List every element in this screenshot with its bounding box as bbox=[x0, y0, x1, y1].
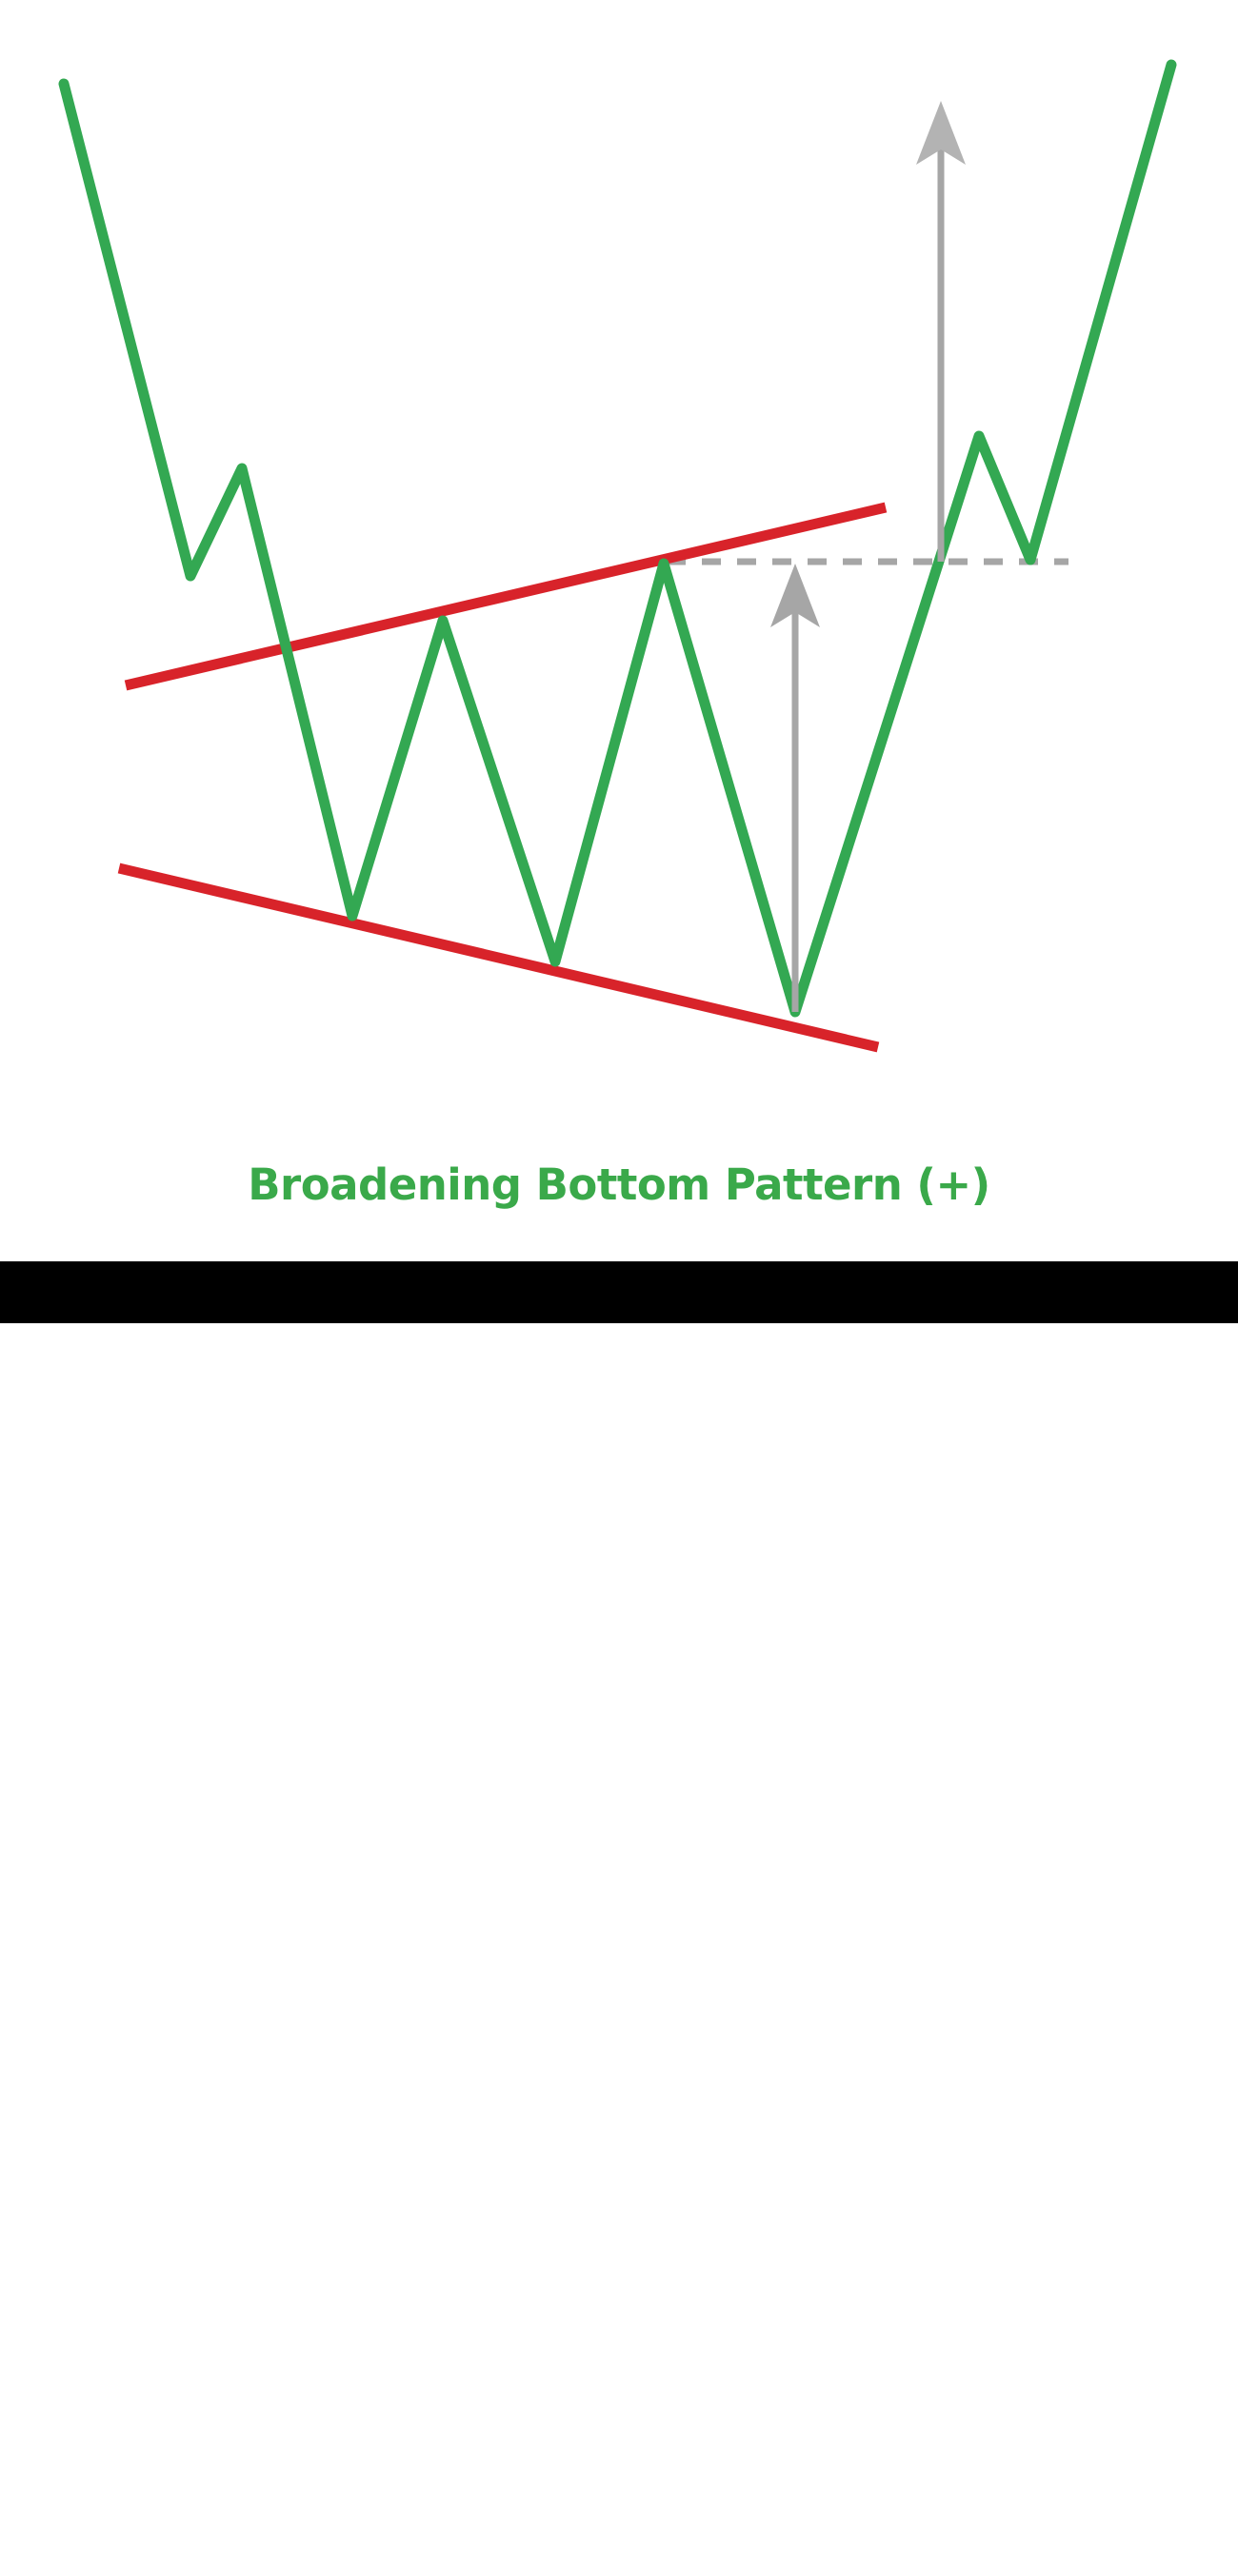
pattern-svg bbox=[0, 0, 1238, 1142]
website-label: www.alamy.com bbox=[1098, 2545, 1225, 2563]
page-title: Broadening Bottom Pattern (+) bbox=[0, 1159, 1238, 1210]
footer-metadata: Image ID: 2M03424 www.alamy.com bbox=[1098, 2526, 1225, 2563]
upper-trendline bbox=[126, 507, 886, 685]
price-line bbox=[64, 65, 1171, 1012]
image-id-label: Image ID: 2M03424 bbox=[1098, 2526, 1225, 2545]
watermark-footer: alamy Image ID: 2M03424 www.alamy.com bbox=[0, 1261, 1238, 1323]
alamy-logo: alamy bbox=[45, 2525, 150, 2576]
chart-pattern-illustration: Broadening Bottom Pattern (+) alamy Imag… bbox=[0, 0, 1238, 1323]
chart-canvas bbox=[0, 0, 1238, 1142]
